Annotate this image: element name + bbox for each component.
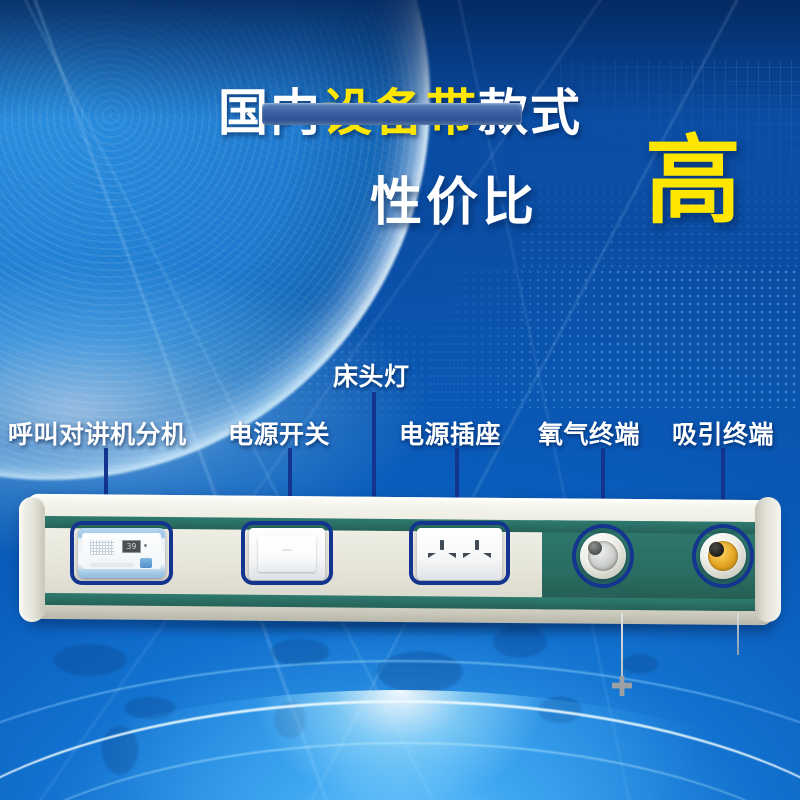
callout-box-power-socket [409,521,510,585]
halftone-dots-center [170,300,470,420]
promo-banner: 国内设备带款式 性价比 高 呼叫对讲机分机 电源开关 床头灯 电源插座 氧气终端… [0,0,800,800]
call-cord[interactable] [621,613,623,681]
bed-lamp-bar[interactable] [262,103,522,125]
headline-emphasis: 高 [645,134,741,230]
callout-box-oxygen [572,524,634,588]
callout-label-power-switch: 电源开关 [228,415,330,451]
callout-box-intercom [70,521,173,585]
headline-subtitle: 性价比 [370,160,538,235]
callout-box-suction [692,524,754,588]
panel-end-cap-right [755,497,781,622]
panel-end-cap-left [19,497,45,622]
callout-label-oxygen: 氧气终端 [538,415,640,451]
callout-label-bed-lamp: 床头灯 [333,357,410,393]
suction-hose [737,613,739,655]
callout-label-power-socket: 电源插座 [399,415,501,451]
callout-label-intercom: 呼叫对讲机分机 [8,415,187,451]
halftone-dots-right [430,268,800,408]
callout-label-suction: 吸引终端 [672,415,774,451]
callout-box-power-switch [241,521,333,585]
